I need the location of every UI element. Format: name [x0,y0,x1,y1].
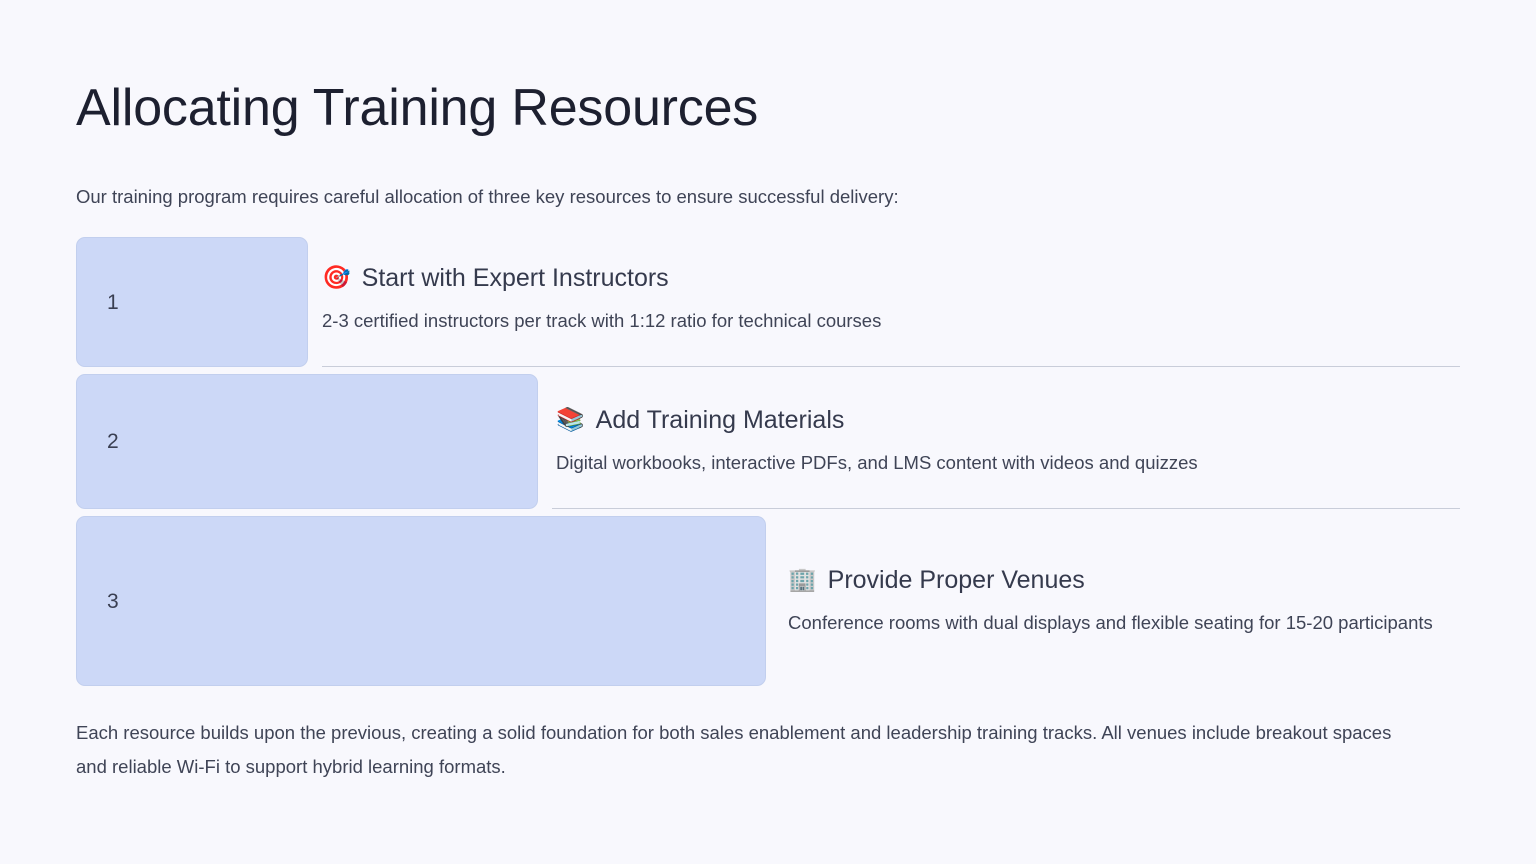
step-content-3: 🏢 Provide Proper Venues Conference rooms… [766,516,1460,686]
footer-paragraph: Each resource builds upon the previous, … [76,686,1406,784]
step-number-box-1: 1 [76,237,308,367]
step-content-2: 📚 Add Training Materials Digital workboo… [538,374,1460,509]
step-number-box-3: 3 [76,516,766,686]
step-number-box-2: 2 [76,374,538,509]
step-row: 3 🏢 Provide Proper Venues Conference roo… [76,516,1460,686]
step-title: Provide Proper Venues [828,565,1085,596]
step-title: Add Training Materials [596,405,845,436]
slide-container: Allocating Training Resources Our traini… [0,0,1536,864]
step-title: Start with Expert Instructors [362,263,669,294]
step-number-label: 3 [107,591,119,612]
books-icon: 📚 [556,409,585,432]
step-row: 1 🎯 Start with Expert Instructors 2-3 ce… [76,237,1460,367]
step-divider [322,366,1460,367]
step-heading: 📚 Add Training Materials [556,405,1460,436]
target-icon: 🎯 [322,267,351,290]
page-title: Allocating Training Resources [76,0,1460,138]
step-content-1: 🎯 Start with Expert Instructors 2-3 cert… [308,237,1460,367]
step-row: 2 📚 Add Training Materials Digital workb… [76,374,1460,509]
step-divider [552,508,1460,509]
step-description: Conference rooms with dual displays and … [788,609,1448,638]
steps-list: 1 🎯 Start with Expert Instructors 2-3 ce… [76,237,1460,686]
step-number-label: 2 [107,431,119,452]
step-description: 2-3 certified instructors per track with… [322,307,1460,336]
office-building-icon: 🏢 [788,569,817,592]
step-heading: 🏢 Provide Proper Venues [788,565,1460,596]
step-heading: 🎯 Start with Expert Instructors [322,263,1460,294]
step-number-label: 1 [107,292,119,313]
step-description: Digital workbooks, interactive PDFs, and… [556,449,1460,478]
intro-paragraph: Our training program requires careful al… [76,138,1460,211]
